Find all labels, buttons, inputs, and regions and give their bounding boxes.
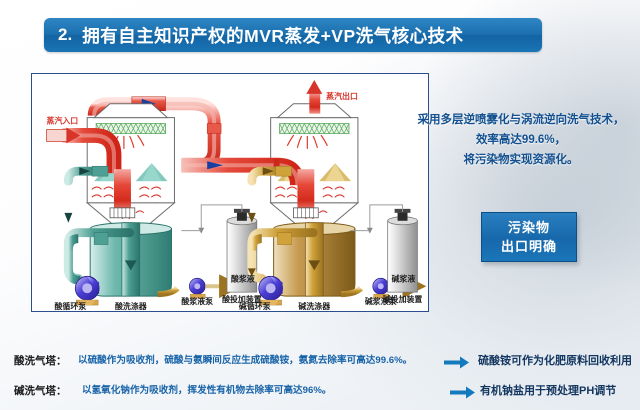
label-alkali-circulation-pump: 碱循环泵: [239, 301, 271, 311]
alkali-row-result: 有机钠盐用于预处理PH调节: [480, 380, 616, 402]
slide-title-bar: 2. 拥有自主知识产权的MVR蒸发+VP洗气核心技术: [44, 18, 542, 52]
right-description-line-3: 将污染物实现资源化。: [408, 150, 634, 170]
alkali-row-body: 以氢氧化钠作为吸收剂，挥发性有机物去除率可高达96%。: [82, 380, 331, 402]
process-diagram: 蒸汽入口 蒸汽出口 酸循环泵 酸洗涤器 酸浆液泵 酸投加装置 酸浆液 碱循环泵 …: [31, 73, 429, 312]
slide-canvas: 2. 拥有自主知识产权的MVR蒸发+VP洗气核心技术: [0, 0, 640, 410]
acid-tower-summary-row: 酸洗气塔： 以硫酸作为吸收剂，硫酸与氨瞬间反应生成硫酸铵，氨氮去除率可高达99.…: [0, 350, 640, 376]
title-number: 2.: [58, 25, 72, 45]
label-acid-circulation-pump: 酸循环泵: [54, 301, 86, 311]
label-acid-slurry-pump: 酸浆液泵: [181, 296, 213, 306]
label-alkali-slurry: 碱浆液: [392, 273, 416, 283]
pollutant-outlet-callout: 污染物 出口明确: [481, 212, 577, 262]
acid-row-head: 酸洗气塔：: [14, 350, 67, 372]
acid-row-body: 以硫酸作为吸收剂，硫酸与氨瞬间反应生成硫酸铵，氨氮去除率可高达99.6%。: [78, 350, 412, 372]
label-alkali-scrubber: 碱洗涤器: [298, 301, 330, 311]
alkali-row-head: 碱洗气塔：: [14, 380, 67, 402]
acid-arrow-icon: [444, 356, 470, 369]
alkali-arrow-icon: [450, 386, 476, 399]
alkali-tower-summary-row: 碱洗气塔： 以氢氧化钠作为吸收剂，挥发性有机物去除率可高达96%。 有机钠盐用于…: [0, 380, 640, 406]
process-diagram-svg: 蒸汽入口 蒸汽出口 酸循环泵 酸洗涤器 酸浆液泵 酸投加装置 酸浆液 碱循环泵 …: [32, 74, 428, 311]
acid-scrubber-tower: [47, 104, 257, 305]
right-description-line-1: 采用多层逆喷雾化与涡流逆向洗气技术，: [408, 110, 634, 130]
label-alkali-dosing-device: 碱投加装置: [383, 294, 423, 304]
label-acid-slurry: 酸浆液: [231, 273, 255, 283]
right-description-line-2: 效率高达99.6%，: [408, 130, 634, 150]
callout-line-2: 出口明确: [501, 237, 557, 256]
label-steam-inlet: 蒸汽入口: [47, 116, 79, 126]
label-acid-scrubber: 酸洗涤器: [115, 301, 147, 311]
right-description: 采用多层逆喷雾化与涡流逆向洗气技术， 效率高达99.6%， 将污染物实现资源化。: [408, 110, 634, 170]
acid-row-result: 硫酸铵可作为化肥原料回收利用: [478, 350, 632, 372]
label-steam-outlet: 蒸汽出口: [326, 91, 358, 101]
callout-line-1: 污染物: [508, 218, 550, 237]
page-title: 拥有自主知识产权的MVR蒸发+VP洗气核心技术: [82, 23, 463, 48]
